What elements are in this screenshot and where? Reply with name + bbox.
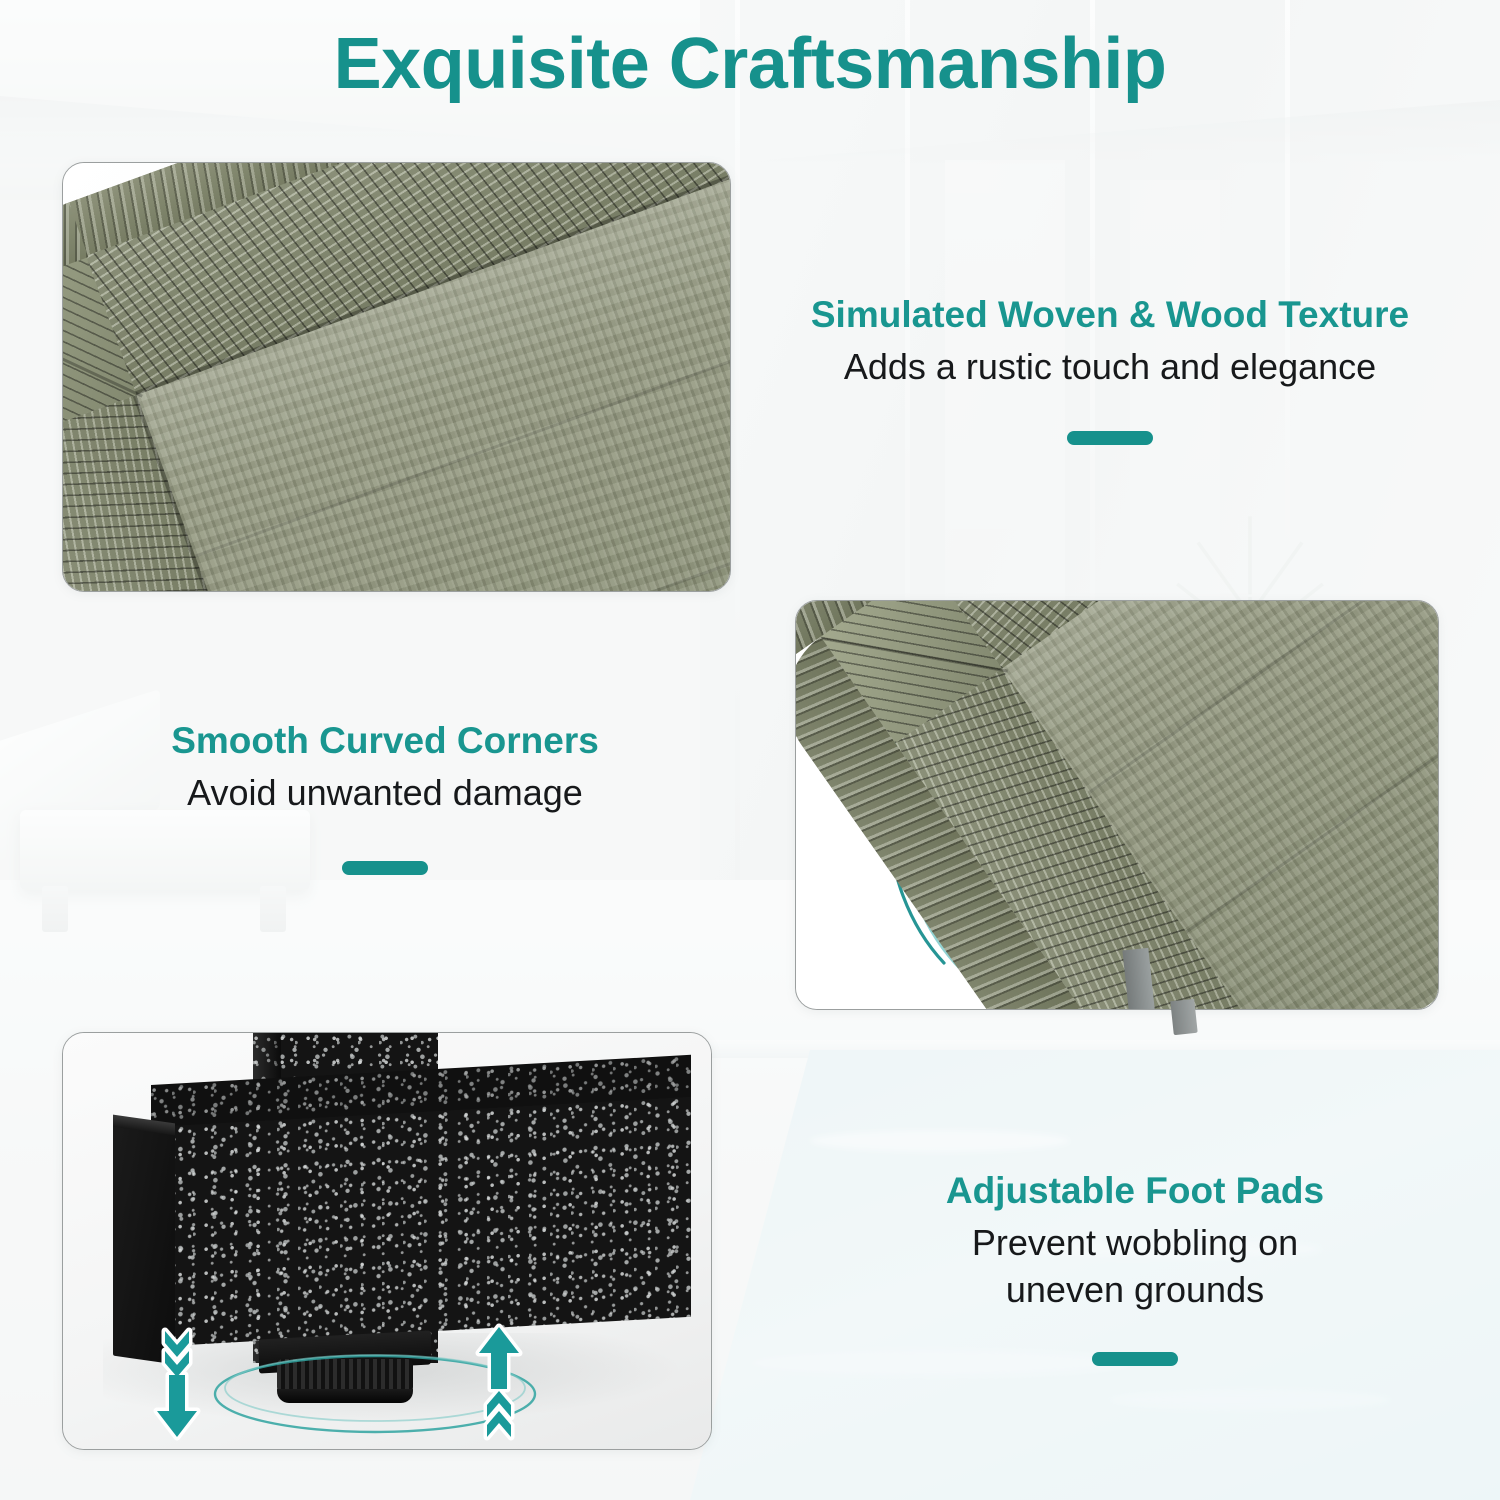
feature-image-card-foot-pad xyxy=(62,1032,712,1450)
feature-text-woven-wood: Simulated Woven & Wood Texture Adds a ru… xyxy=(760,292,1460,445)
feature-image-card-curved-corner xyxy=(795,600,1439,1010)
frame-beam-front-face xyxy=(151,1097,691,1347)
height-decrease-arrow[interactable] xyxy=(149,1325,205,1443)
height-increase-arrow[interactable] xyxy=(471,1321,527,1443)
table-corner-slab xyxy=(796,601,1438,1009)
feature-heading: Adjustable Foot Pads xyxy=(855,1168,1415,1214)
divider-bar xyxy=(1092,1352,1178,1366)
feature-subtitle-line-2: uneven grounds xyxy=(855,1267,1415,1314)
infographic-canvas: Exquisite Craftsmanship xyxy=(0,0,1500,1500)
feature-subtitle-line-1: Prevent wobbling on xyxy=(855,1220,1415,1267)
feature-heading: Smooth Curved Corners xyxy=(105,718,665,764)
feature-image-card-woven-wood xyxy=(62,162,731,592)
feature-subtitle: Avoid unwanted damage xyxy=(105,770,665,817)
divider-bar xyxy=(1067,431,1153,445)
page-title: Exquisite Craftsmanship xyxy=(0,28,1500,100)
feature-text-foot-pads: Adjustable Foot Pads Prevent wobbling on… xyxy=(855,1168,1415,1366)
feature-subtitle: Adds a rustic touch and elegance xyxy=(760,344,1460,391)
divider-bar xyxy=(342,861,428,875)
feature-text-curved-corners: Smooth Curved Corners Avoid unwanted dam… xyxy=(105,718,665,875)
table-top-slab xyxy=(63,163,730,591)
table-leg-extension xyxy=(1170,999,1197,1035)
feature-heading: Simulated Woven & Wood Texture xyxy=(760,292,1460,338)
